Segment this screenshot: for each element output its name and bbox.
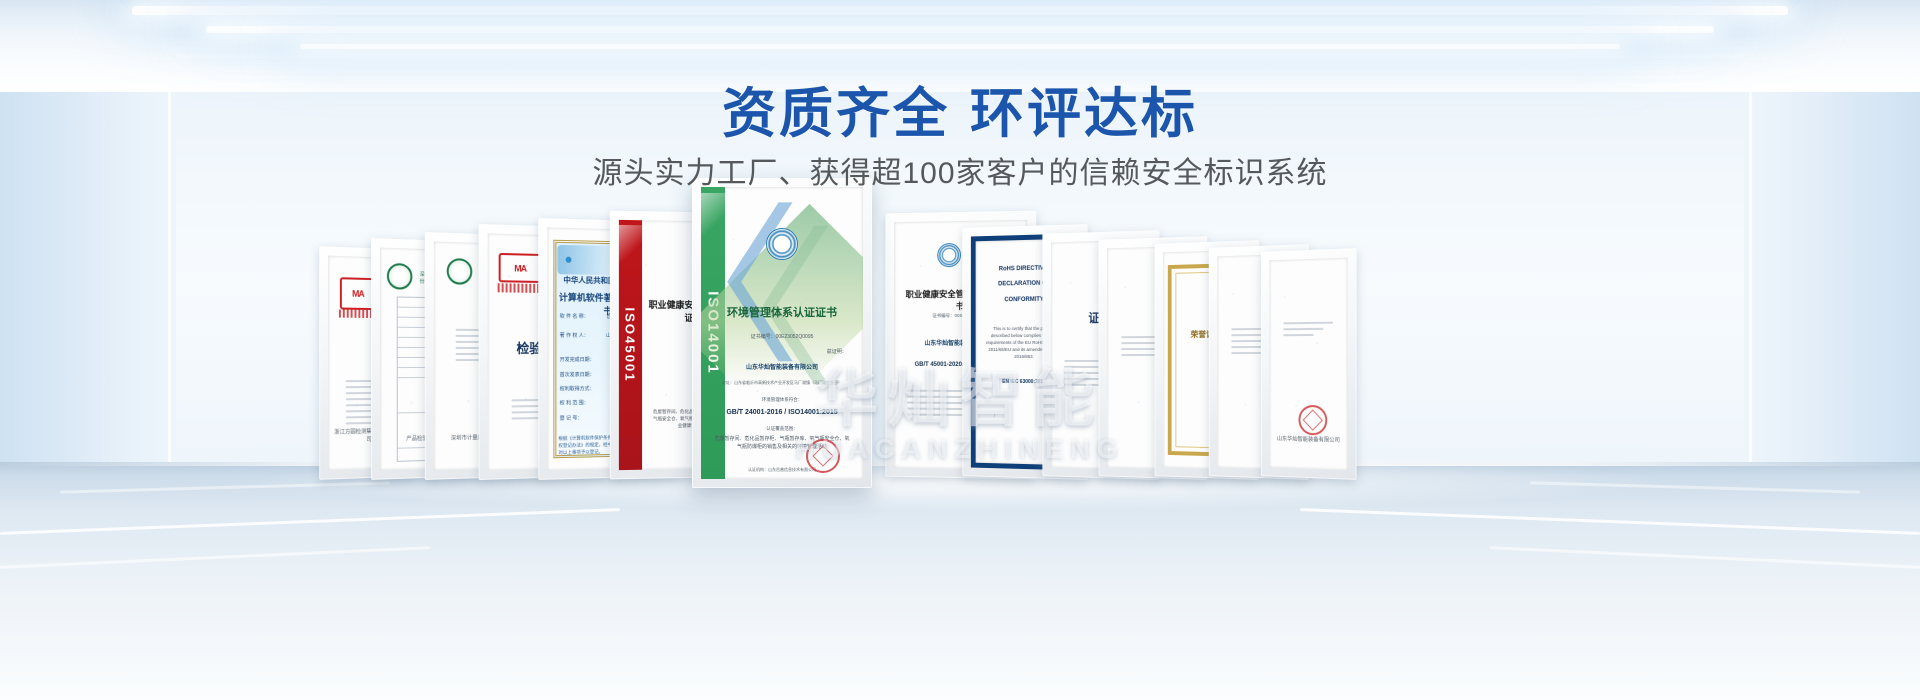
- certification-body-logo-icon: [766, 228, 798, 260]
- certificate-holder-7: 山东华灿智能装备有限公司: [717, 362, 847, 371]
- field-label: 权 利 范 围：: [560, 400, 589, 407]
- ma-badge-text: MA: [514, 263, 526, 273]
- certificate-card-7-iso14001[interactable]: ISO14001 环境管理体系认证证书 证书编号：00E23052Q0095 兹…: [692, 178, 872, 488]
- certificate-card-14[interactable]: 山东华灿智能装备有限公司: [1261, 248, 1357, 480]
- certificate-paper-14: 山东华灿智能装备有限公司: [1269, 258, 1347, 471]
- banner-stage: 资质齐全环评达标 源头实力工厂、获得超100家客户的信赖安全标识系统 MA 浙江…: [0, 0, 1920, 700]
- certification-body-logo-icon: [938, 243, 962, 267]
- page-subtitle: 源头实力工厂、获得超100家客户的信赖安全标识系统: [0, 154, 1920, 194]
- iso45001-side-bar: ISO45001: [619, 220, 642, 470]
- ma-badge-text: MA: [352, 289, 364, 299]
- certificate-standard-label-7: 环境管理体系符合：: [717, 397, 847, 403]
- certificate-title-7: 环境管理体系认证证书: [714, 304, 850, 320]
- title-part-2: 环评达标: [970, 84, 1198, 144]
- certificate-ornament-icon: [557, 245, 613, 275]
- field-label: 著 作 权 人：: [560, 332, 589, 339]
- certificate-holder-label-7: 兹证明：: [827, 348, 847, 355]
- page-title: 资质齐全环评达标: [0, 82, 1920, 146]
- field-label: 权利取得方式：: [560, 385, 595, 392]
- certificate-address-7: 地址：山东省临沂市高新技术产业开发区马厂湖镇（马厂湖工业园）: [717, 380, 847, 386]
- field-label: 首次发表日期：: [560, 371, 595, 378]
- ma-badge-underline-icon: [339, 309, 375, 318]
- institute-emblem-icon: [447, 258, 473, 285]
- ma-badge-icon: MA: [499, 253, 542, 284]
- certificate-number-7: 证书编号：00E23052Q0095: [717, 333, 847, 340]
- field-label: 登 记 号：: [560, 414, 583, 421]
- institute-emblem-icon: [387, 263, 412, 290]
- iso45001-side-text: ISO45001: [623, 307, 638, 382]
- field-label: 开发完成日期：: [560, 356, 595, 363]
- certificate-paper-7: ISO14001 环境管理体系认证证书 证书编号：00E23052Q0095 兹…: [701, 187, 863, 479]
- field-label: 软 件 名 称：: [560, 313, 589, 320]
- official-seal-icon: [1298, 405, 1327, 436]
- title-part-1: 资质齐全: [722, 84, 950, 144]
- headline-block: 资质齐全环评达标 源头实力工厂、获得超100家客户的信赖安全标识系统: [0, 82, 1920, 194]
- signature-icon: [991, 414, 1039, 429]
- certificate-scope-label-7: 认证覆盖范围：: [717, 426, 847, 432]
- certificate-standard-7: GB/T 24001-2016 / ISO14001:2015: [717, 409, 847, 416]
- certificate-lines-14: [1283, 322, 1333, 341]
- side-bar-corner-icon: [619, 225, 642, 265]
- ma-badge-underline-icon: [498, 283, 541, 293]
